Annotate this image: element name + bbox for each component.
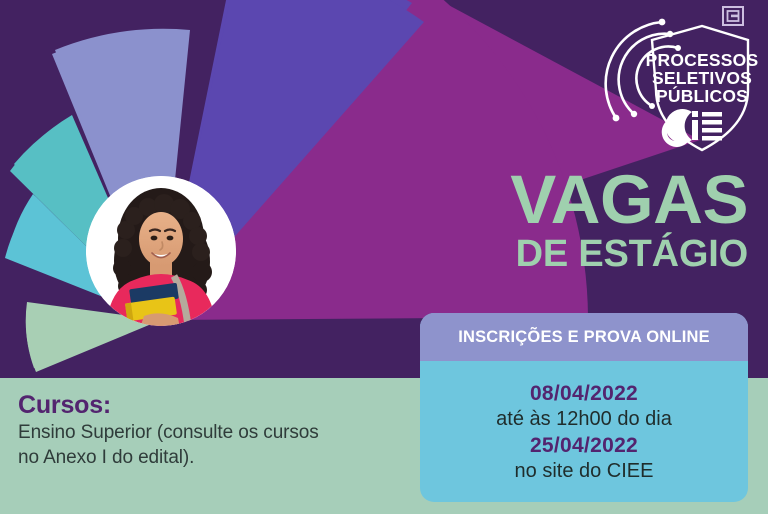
shield-text: PROCESSOS SELETIVOS PÚBLICOS bbox=[646, 50, 759, 106]
square-bracket-mark-icon bbox=[722, 6, 744, 26]
svg-text:SELETIVOS: SELETIVOS bbox=[652, 68, 752, 88]
courses-body-line-1: Ensino Superior (consulte os cursos bbox=[18, 421, 398, 445]
page-title: VAGAS DE ESTÁGIO bbox=[0, 168, 748, 275]
courses-body-line-2: no Anexo I do edital). bbox=[18, 446, 398, 470]
courses-block: Cursos: Ensino Superior (consulte os cur… bbox=[18, 392, 398, 470]
headline-line-2: DE ESTÁGIO bbox=[0, 235, 748, 275]
headline-line-1: VAGAS bbox=[0, 168, 748, 233]
inscriptions-info-card: INSCRIÇÕES E PROVA ONLINE 08/04/2022 até… bbox=[420, 313, 748, 502]
info-line-date-end: 25/04/2022 bbox=[530, 433, 638, 459]
courses-title: Cursos: bbox=[18, 392, 398, 418]
courses-body: Ensino Superior (consulte os cursos no A… bbox=[18, 421, 398, 470]
info-line-date-start: 08/04/2022 bbox=[530, 381, 638, 407]
svg-text:PÚBLICOS: PÚBLICOS bbox=[656, 85, 748, 106]
processos-seletivos-publicos-logo: PROCESSOS SELETIVOS PÚBLICOS bbox=[604, 8, 760, 158]
info-line-website: no site do CIEE bbox=[515, 459, 654, 484]
info-card-body: 08/04/2022 até às 12h00 do dia 25/04/202… bbox=[420, 361, 748, 502]
poster-canvas: VAGAS DE ESTÁGIO PROCESSOS SELETIVOS PÚB… bbox=[0, 0, 768, 514]
info-card-header-label: INSCRIÇÕES E PROVA ONLINE bbox=[458, 328, 710, 347]
info-line-deadline-time: até às 12h00 do dia bbox=[496, 407, 672, 432]
svg-text:PROCESSOS: PROCESSOS bbox=[646, 50, 759, 70]
ciee-wordmark bbox=[662, 109, 722, 147]
info-card-header: INSCRIÇÕES E PROVA ONLINE bbox=[420, 313, 748, 361]
